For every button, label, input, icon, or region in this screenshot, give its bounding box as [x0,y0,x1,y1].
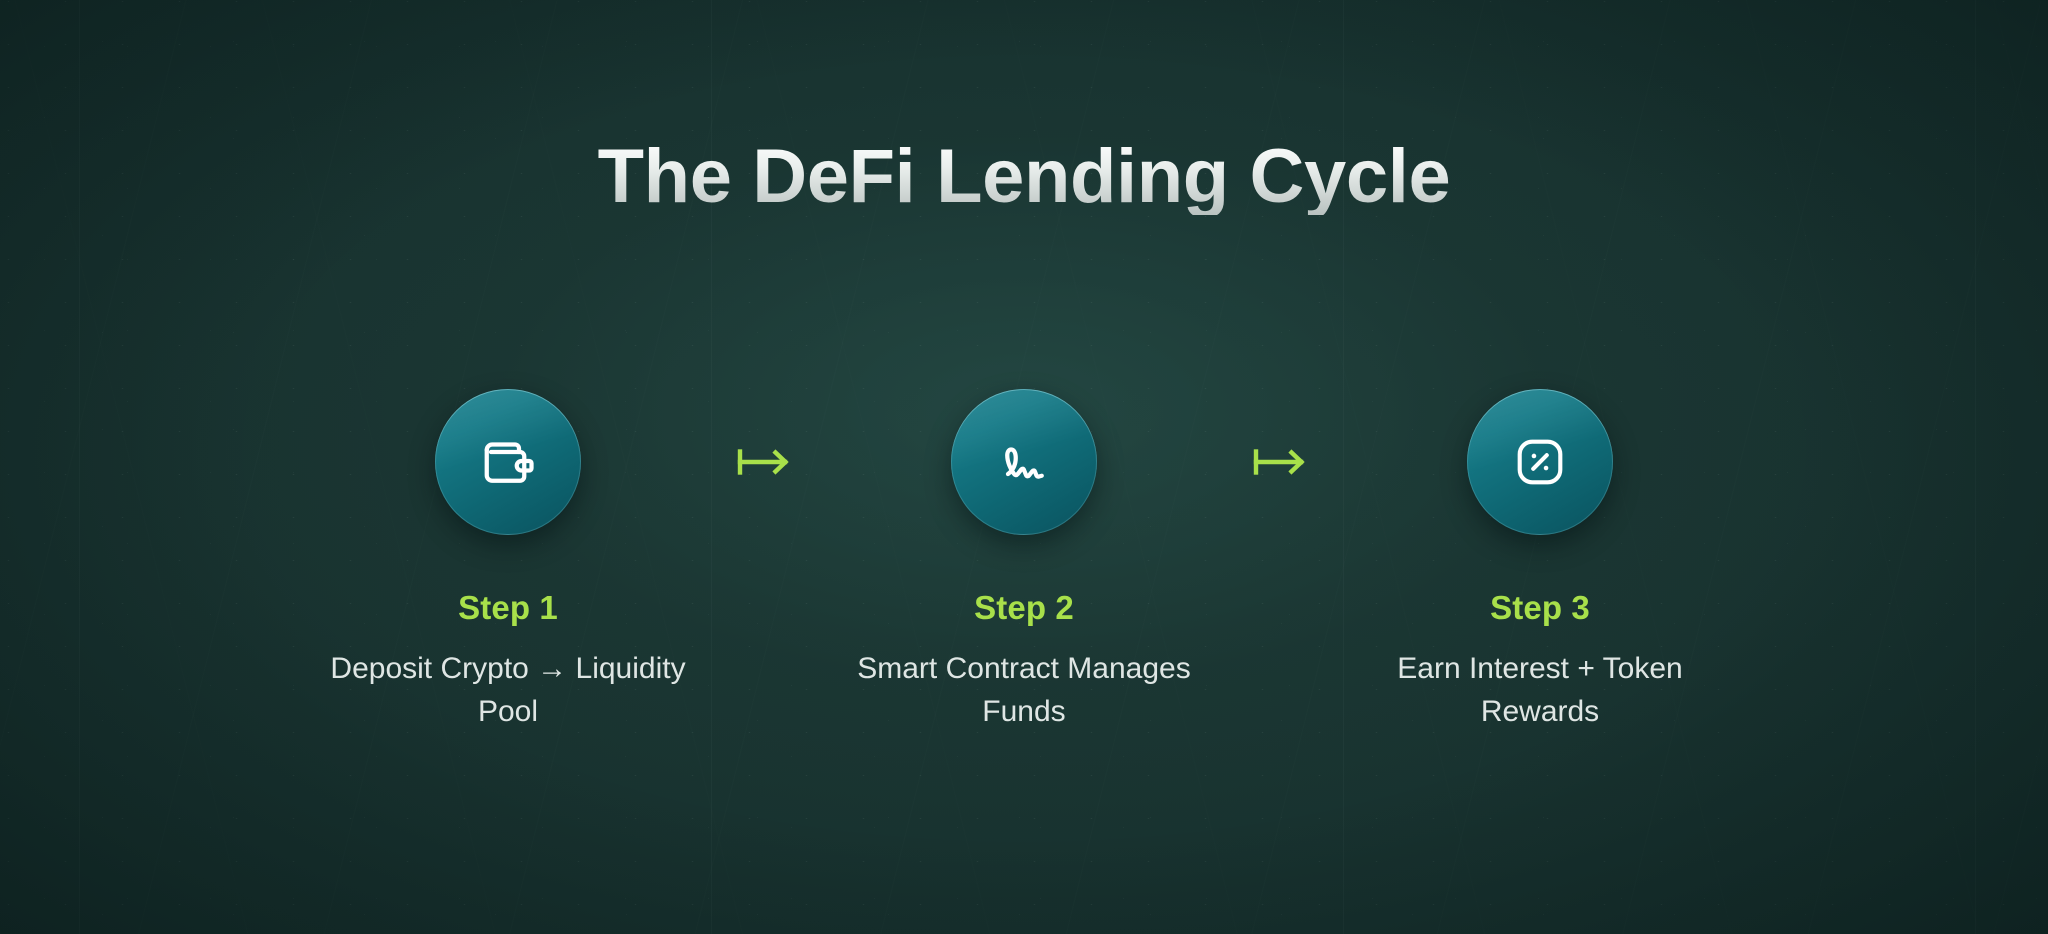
arrow-from-bar-right-icon [735,445,797,479]
step-2-description: Smart Contract Manages Funds [834,648,1214,733]
step-3-label: Step 3 [1490,591,1590,624]
step-3-icon-circle[interactable] [1467,389,1613,535]
connector-arrow-1 [710,389,822,535]
wallet-icon [478,432,538,492]
percent-badge-icon [1511,433,1569,491]
slide-canvas: The DeFi Lending Cycle Step 1 Deposit Cr… [0,0,2048,934]
arrow-from-bar-right-icon [1251,445,1313,479]
step-2-label: Step 2 [974,591,1074,624]
flow-step-2[interactable]: Step 2 Smart Contract Manages Funds [822,389,1226,733]
flow-step-3[interactable]: Step 3 Earn Interest + Token Rewards [1338,389,1742,733]
signature-icon [994,432,1054,492]
step-2-icon-circle[interactable] [951,389,1097,535]
flow-step-1[interactable]: Step 1 Deposit Crypto → Liquidity Pool [306,389,710,733]
lending-cycle-flow: Step 1 Deposit Crypto → Liquidity Pool [0,389,2048,733]
page-title: The DeFi Lending Cycle [0,139,2048,215]
connector-arrow-2 [1226,389,1338,535]
step-1-label: Step 1 [458,591,558,624]
step-3-description: Earn Interest + Token Rewards [1350,648,1730,733]
step-1-description: Deposit Crypto → Liquidity Pool [318,648,698,733]
step-1-icon-circle[interactable] [435,389,581,535]
